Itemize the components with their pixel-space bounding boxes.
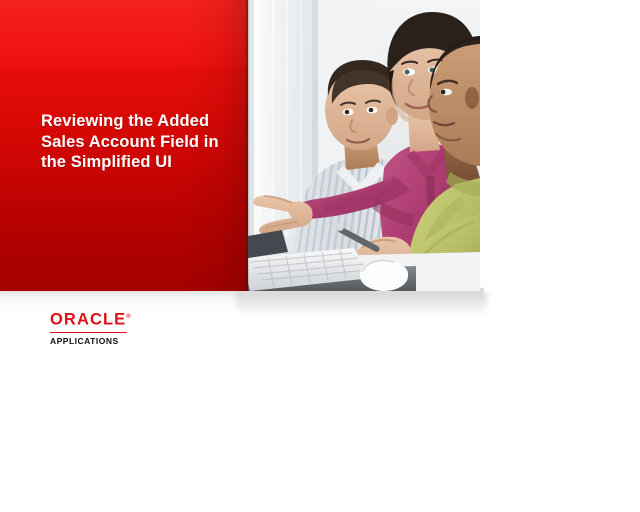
oracle-wordmark-text: ORACLE bbox=[50, 311, 126, 329]
hero-photo-illustration bbox=[248, 0, 480, 291]
slide-canvas: Reviewing the Added Sales Account Field … bbox=[0, 0, 640, 512]
hero-photo bbox=[248, 0, 480, 291]
registered-trademark-icon: ® bbox=[126, 314, 130, 320]
oracle-applications-logo: ORACLE® APPLICATIONS bbox=[50, 309, 140, 346]
banner-drop-shadow-soft bbox=[236, 292, 488, 318]
panel-photo-seam bbox=[246, 0, 249, 291]
page-title: Reviewing the Added Sales Account Field … bbox=[41, 111, 246, 173]
oracle-product-label: APPLICATIONS bbox=[50, 336, 140, 346]
oracle-wordmark: ORACLE® bbox=[50, 309, 140, 329]
logo-underline-rule bbox=[50, 332, 127, 334]
